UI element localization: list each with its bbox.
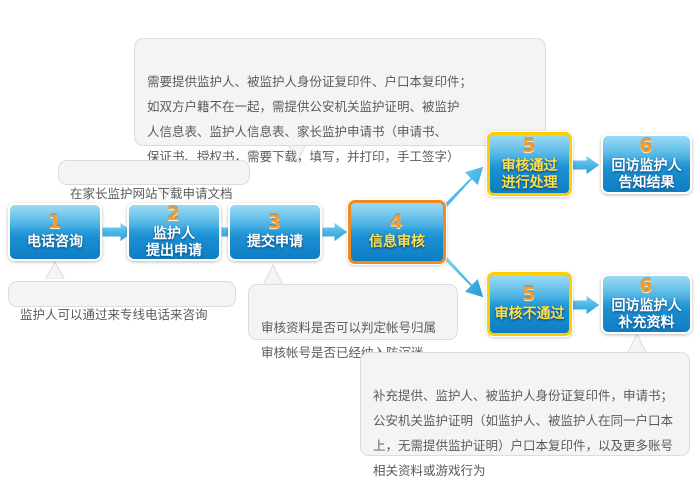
step-box-2-guardian-apply[interactable]: 2 监护人 提出申请: [127, 203, 221, 261]
step-box-1-phone-consult[interactable]: 1 电话咨询: [8, 203, 102, 261]
arrow-rejected-followup: [572, 295, 600, 315]
step-number: 6: [639, 137, 653, 156]
step-number: 5: [522, 137, 536, 156]
step-box-6-followup-notify[interactable]: 6 回访监护人 告知结果: [601, 134, 692, 194]
arrow-step3-step4: [322, 222, 348, 242]
step-label: 提交申请: [243, 234, 307, 251]
step-box-5-review-approved[interactable]: 5 审核通过 进行处理: [487, 132, 572, 196]
step-box-4-information-review[interactable]: 4 信息审核: [348, 200, 446, 264]
step-box-3-submit-application[interactable]: 3 提交申请: [228, 203, 322, 261]
step-box-6-followup-supplement[interactable]: 6 回访监护人 补充资料: [601, 274, 692, 334]
callout-download-docs: 在家长监护网站下载申请文档: [58, 160, 250, 185]
step-number: 5: [522, 285, 536, 304]
step-box-5-review-rejected[interactable]: 5 审核不通过: [487, 272, 572, 336]
step-number: 3: [268, 213, 282, 232]
step-number: 6: [639, 277, 653, 296]
flowchart-canvas: 需要提供监护人、被监护人身份证复印件、户口本复印件； 如双方户籍不在一起，需提供…: [0, 0, 700, 470]
callout-supplement-text: 补充提供、监护人、被监护人身份证复印件，申请书； 公安机关监护证明（如监护人、被…: [373, 388, 673, 478]
callout-download-docs-text: 在家长监护网站下载申请文档: [70, 186, 233, 201]
step-label: 审核不通过: [491, 306, 569, 323]
step-number: 2: [167, 205, 181, 224]
callout-hotline-text: 监护人可以通过来专线电话来咨询: [20, 307, 208, 322]
callout-supplement: 补充提供、监护人、被监护人身份证复印件，申请书； 公安机关监护证明（如监护人、被…: [360, 352, 690, 456]
step-label: 回访监护人 告知结果: [608, 158, 686, 191]
step-label: 回访监护人 补充资料: [608, 298, 686, 331]
callout-tail-supplement: [628, 334, 646, 352]
callout-top-documents-text: 需要提供监护人、被监护人身份证复印件、户口本复印件； 如双方户籍不在一起，需提供…: [147, 74, 472, 164]
step-label: 电话咨询: [23, 234, 87, 251]
arrow-approved-followup: [572, 155, 600, 175]
callout-review-criteria: 审核资料是否可以判定帐号归属 审核帐号是否已经纳入防沉迷: [248, 284, 458, 340]
arrow-step4-approved: [440, 166, 484, 212]
step-number: 4: [390, 213, 404, 232]
step-label: 监护人 提出申请: [142, 226, 206, 259]
step-label: 审核通过 进行处理: [498, 158, 562, 191]
callout-top-documents: 需要提供监护人、被监护人身份证复印件、户口本复印件； 如双方户籍不在一起，需提供…: [134, 38, 546, 146]
step-label: 信息审核: [365, 234, 429, 251]
callout-hotline: 监护人可以通过来专线电话来咨询: [8, 281, 236, 307]
step-number: 1: [48, 213, 62, 232]
callout-tail-hotline: [46, 262, 64, 278]
callout-tail-review-criteria: [264, 265, 282, 283]
